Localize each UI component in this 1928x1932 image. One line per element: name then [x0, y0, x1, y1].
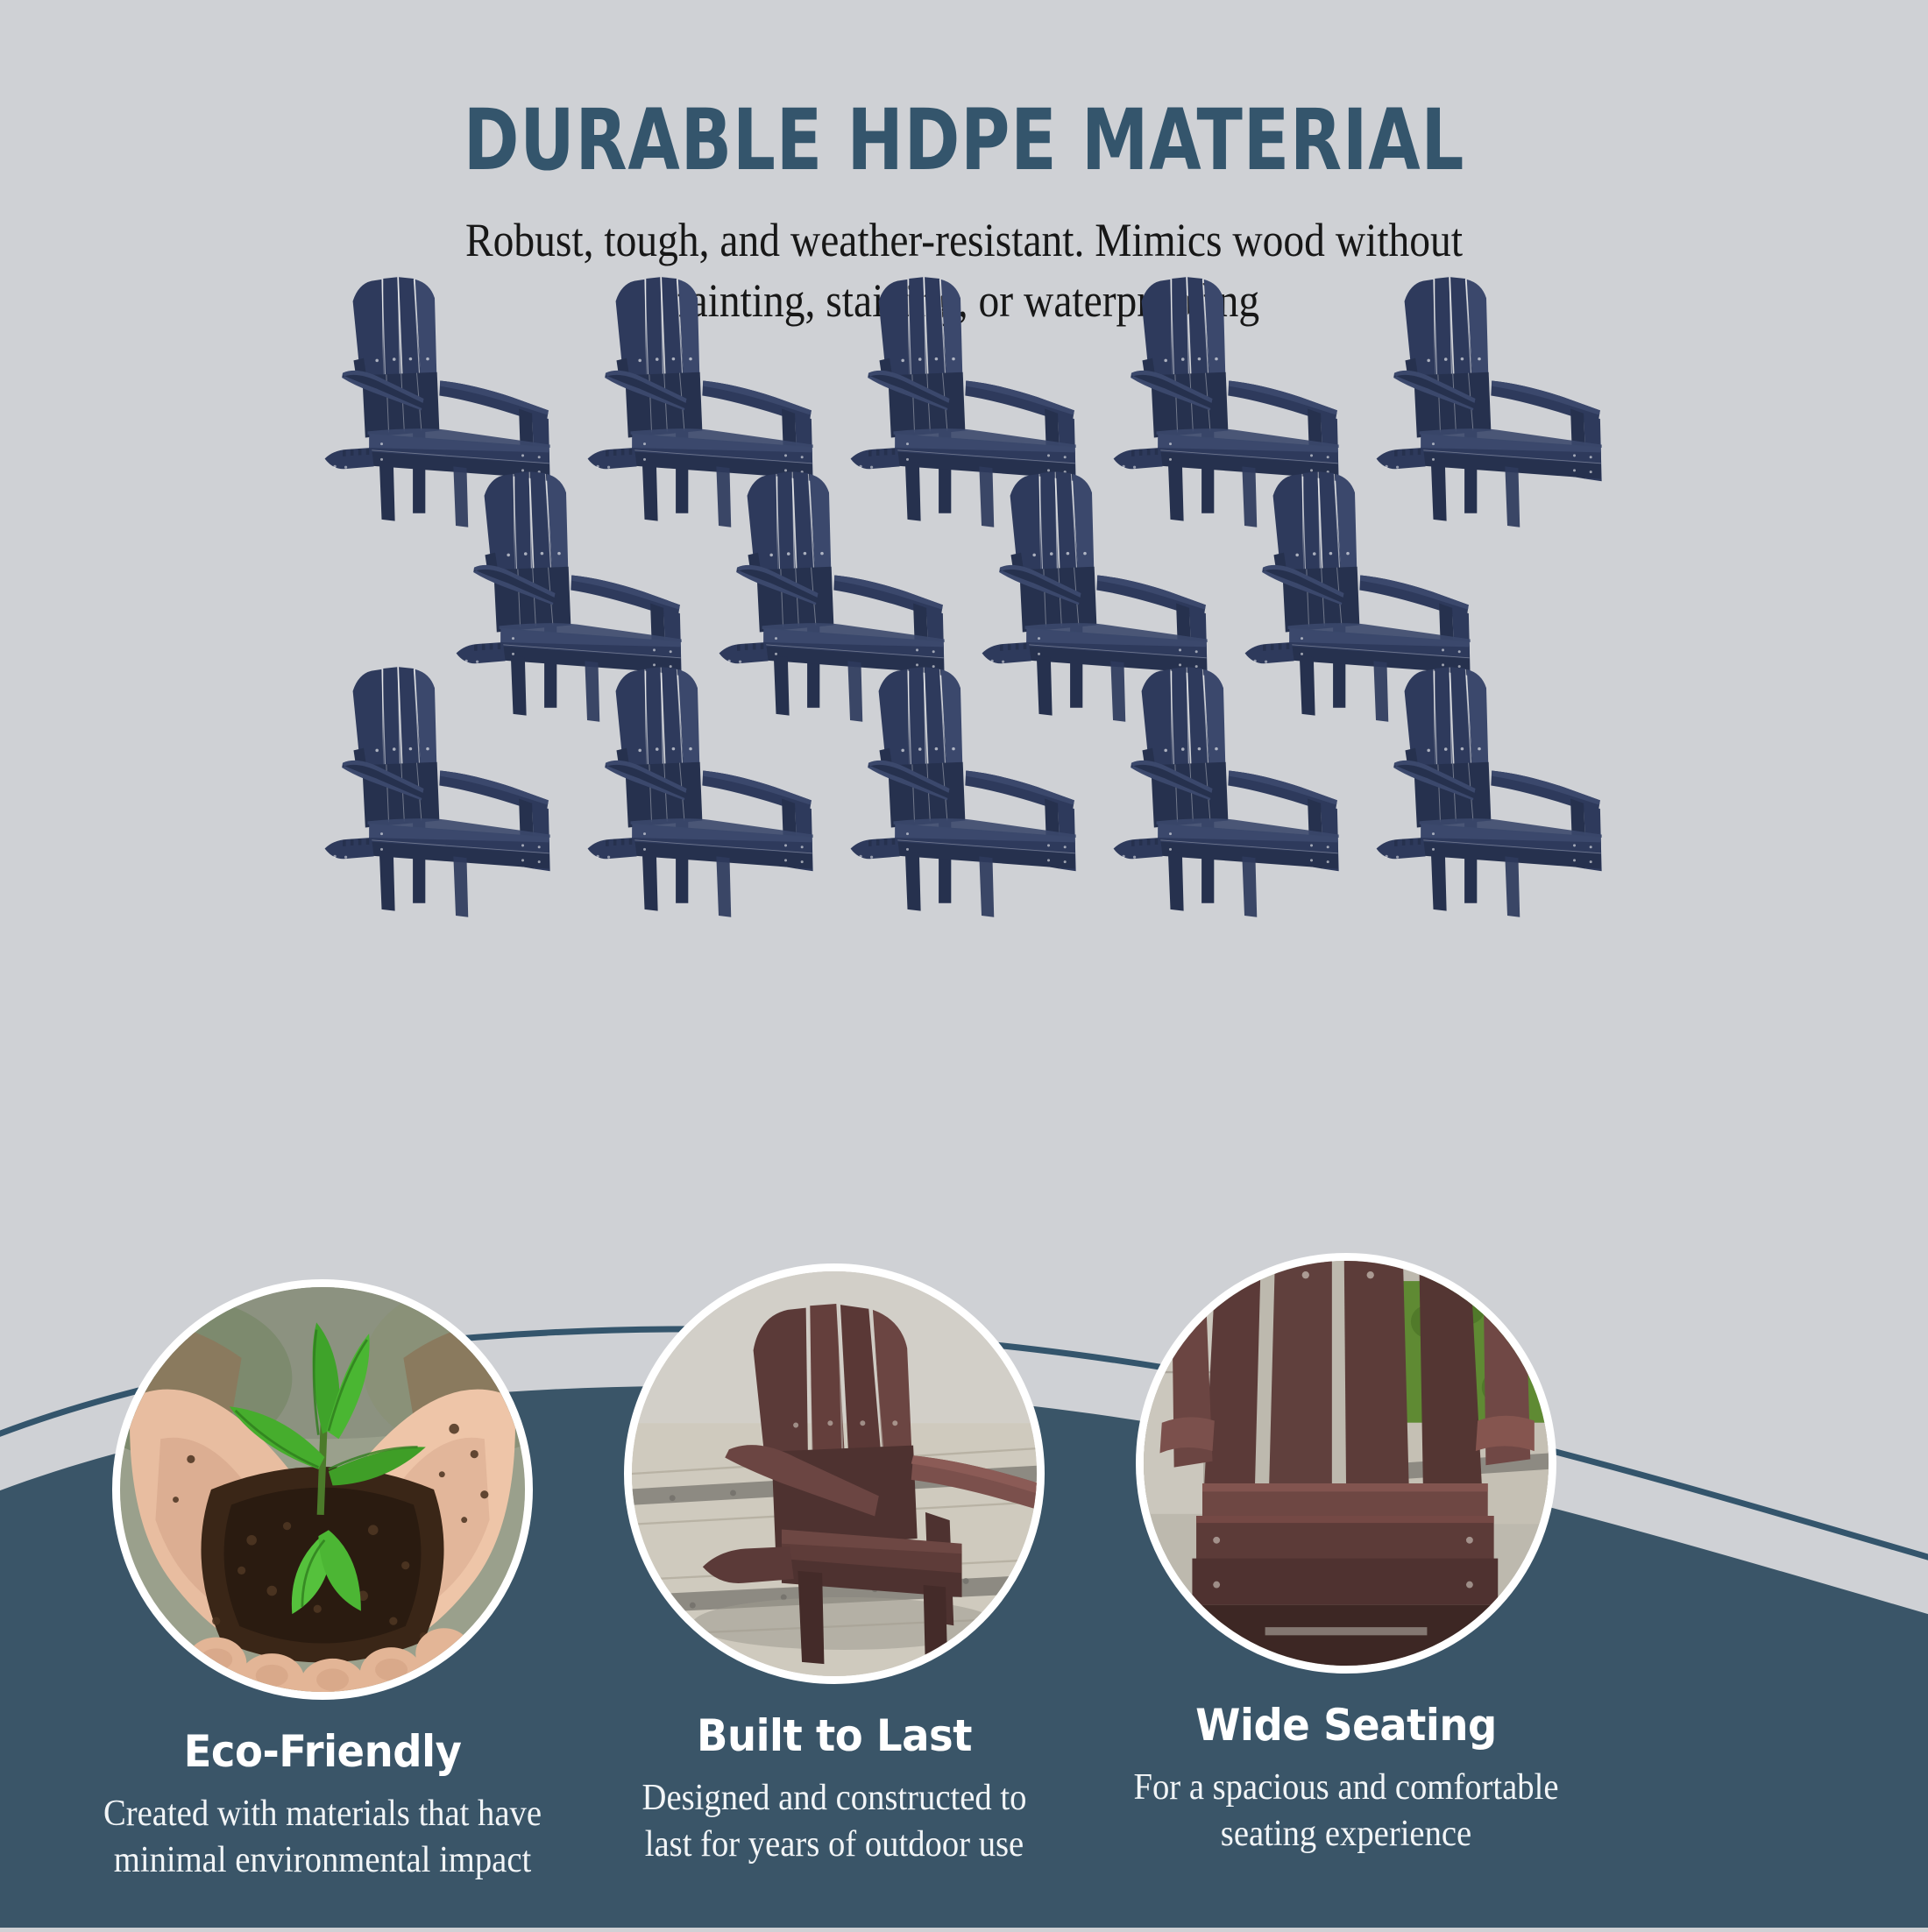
illustration-brown-adirondack-chair-on-patio — [632, 1271, 1037, 1676]
chair-illustration-navy-blue: .p-main{fill:#2e3a5c}.p-shade{fill:#2631… — [1358, 662, 1621, 923]
chair-illustration-orange: .p-main{fill:#ef7b2c}.p-shade{fill:#da67… — [1095, 662, 1358, 923]
feature-desc-line-2: minimal environmental impact — [81, 1837, 564, 1884]
feature-description-eco-friendly: Created with materials that haveminimal … — [81, 1791, 564, 1884]
page-title: DURABLE HDPE MATERIAL — [193, 98, 1735, 184]
feature-description-built-to-last: Designed and constructed tolast for year… — [592, 1775, 1076, 1868]
chair-teak[interactable]: .p-main{fill:#cf9a67}.p-shade{fill:#bb84… — [438, 466, 701, 675]
feature-desc-line-1: For a spacious and comfortable — [1104, 1765, 1588, 1811]
subtitle-line-1: Robust, tough, and weather-resistant. Mi… — [116, 210, 1812, 271]
feature-description-wide-seating: For a spacious and comfortableseating ex… — [1104, 1765, 1588, 1858]
feature-built-to-last: Built to LastDesigned and constructed to… — [624, 1263, 1045, 1868]
feature-eco-friendly: Eco-FriendlyCreated with materials that … — [112, 1279, 533, 1884]
chair-white[interactable]: .p-main{fill:#fdfdfd}.p-shade{fill:#eaea… — [964, 466, 1227, 675]
feature-wide-seating: Wide SeatingFor a spacious and comfortab… — [1136, 1253, 1556, 1858]
feature-title-wide-seating: Wide Seating — [1151, 1700, 1542, 1751]
chair-black[interactable]: .p-main{fill:#111111}.p-shade{fill:#0a0a… — [307, 272, 570, 480]
chair-row-1: .p-main{fill:#111111}.p-shade{fill:#0a0a… — [0, 272, 1928, 480]
infographic-canvas: DURABLE HDPE MATERIAL Robust, tough, and… — [0, 0, 1928, 1928]
chair-illustration-light-blue: .p-main{fill:#3fa9e0}.p-shade{fill:#2e93… — [833, 662, 1095, 923]
chair-row-2: .p-main{fill:#cf9a67}.p-shade{fill:#bb84… — [0, 466, 1928, 675]
feature-desc-line-2: last for years of outdoor use — [592, 1822, 1076, 1868]
feature-desc-line-1: Created with materials that have — [81, 1791, 564, 1837]
feature-image-wide-seating — [1136, 1253, 1556, 1674]
chair-brown[interactable]: .p-main{fill:#7d5c5c}.p-shade{fill:#6a4c… — [570, 272, 833, 480]
chair-light-blue[interactable]: .p-main{fill:#3fa9e0}.p-shade{fill:#2e93… — [833, 662, 1095, 870]
feature-image-built-to-last — [624, 1263, 1045, 1684]
illustration-closeup-brown-chair-wide-seat — [1144, 1261, 1549, 1666]
chair-gray[interactable]: .p-main{fill:#6f7276}.p-shade{fill:#5f62… — [1095, 272, 1358, 480]
chair-taupe[interactable]: .p-main{fill:#b2a694}.p-shade{fill:#9d92… — [1227, 466, 1490, 675]
chair-orange[interactable]: .p-main{fill:#ef7b2c}.p-shade{fill:#da67… — [1095, 662, 1358, 870]
feature-image-eco-friendly — [112, 1279, 533, 1700]
feature-title-built-to-last: Built to Last — [639, 1710, 1030, 1761]
chair-row-3: .p-main{fill:#ddd8cd}.p-shade{fill:#cbc5… — [0, 662, 1928, 870]
chair-dark-green[interactable]: .p-main{fill:#2f6455}.p-shade{fill:#2754… — [833, 272, 1095, 480]
illustration-hands-holding-seedling-in-soil — [120, 1287, 525, 1692]
chair-ivory[interactable]: .p-main{fill:#ddd8cd}.p-shade{fill:#cbc5… — [307, 662, 570, 870]
chair-turquoise[interactable]: .p-main{fill:#5fd4d4}.p-shade{fill:#48bf… — [701, 466, 964, 675]
chair-lime-green[interactable]: .p-main{fill:#a9dd29}.p-shade{fill:#93c7… — [1358, 272, 1621, 480]
feature-title-eco-friendly: Eco-Friendly — [127, 1726, 518, 1777]
chair-red[interactable]: .p-main{fill:#e02a45}.p-shade{fill:#c71e… — [570, 662, 833, 870]
chair-illustration-ivory: .p-main{fill:#ddd8cd}.p-shade{fill:#cbc5… — [307, 662, 570, 923]
feature-desc-line-1: Designed and constructed to — [592, 1775, 1076, 1822]
chair-illustration-red: .p-main{fill:#e02a45}.p-shade{fill:#c71e… — [570, 662, 833, 923]
feature-desc-line-2: seating experience — [1104, 1811, 1588, 1858]
chair-navy-blue[interactable]: .p-main{fill:#2e3a5c}.p-shade{fill:#2631… — [1358, 662, 1621, 870]
